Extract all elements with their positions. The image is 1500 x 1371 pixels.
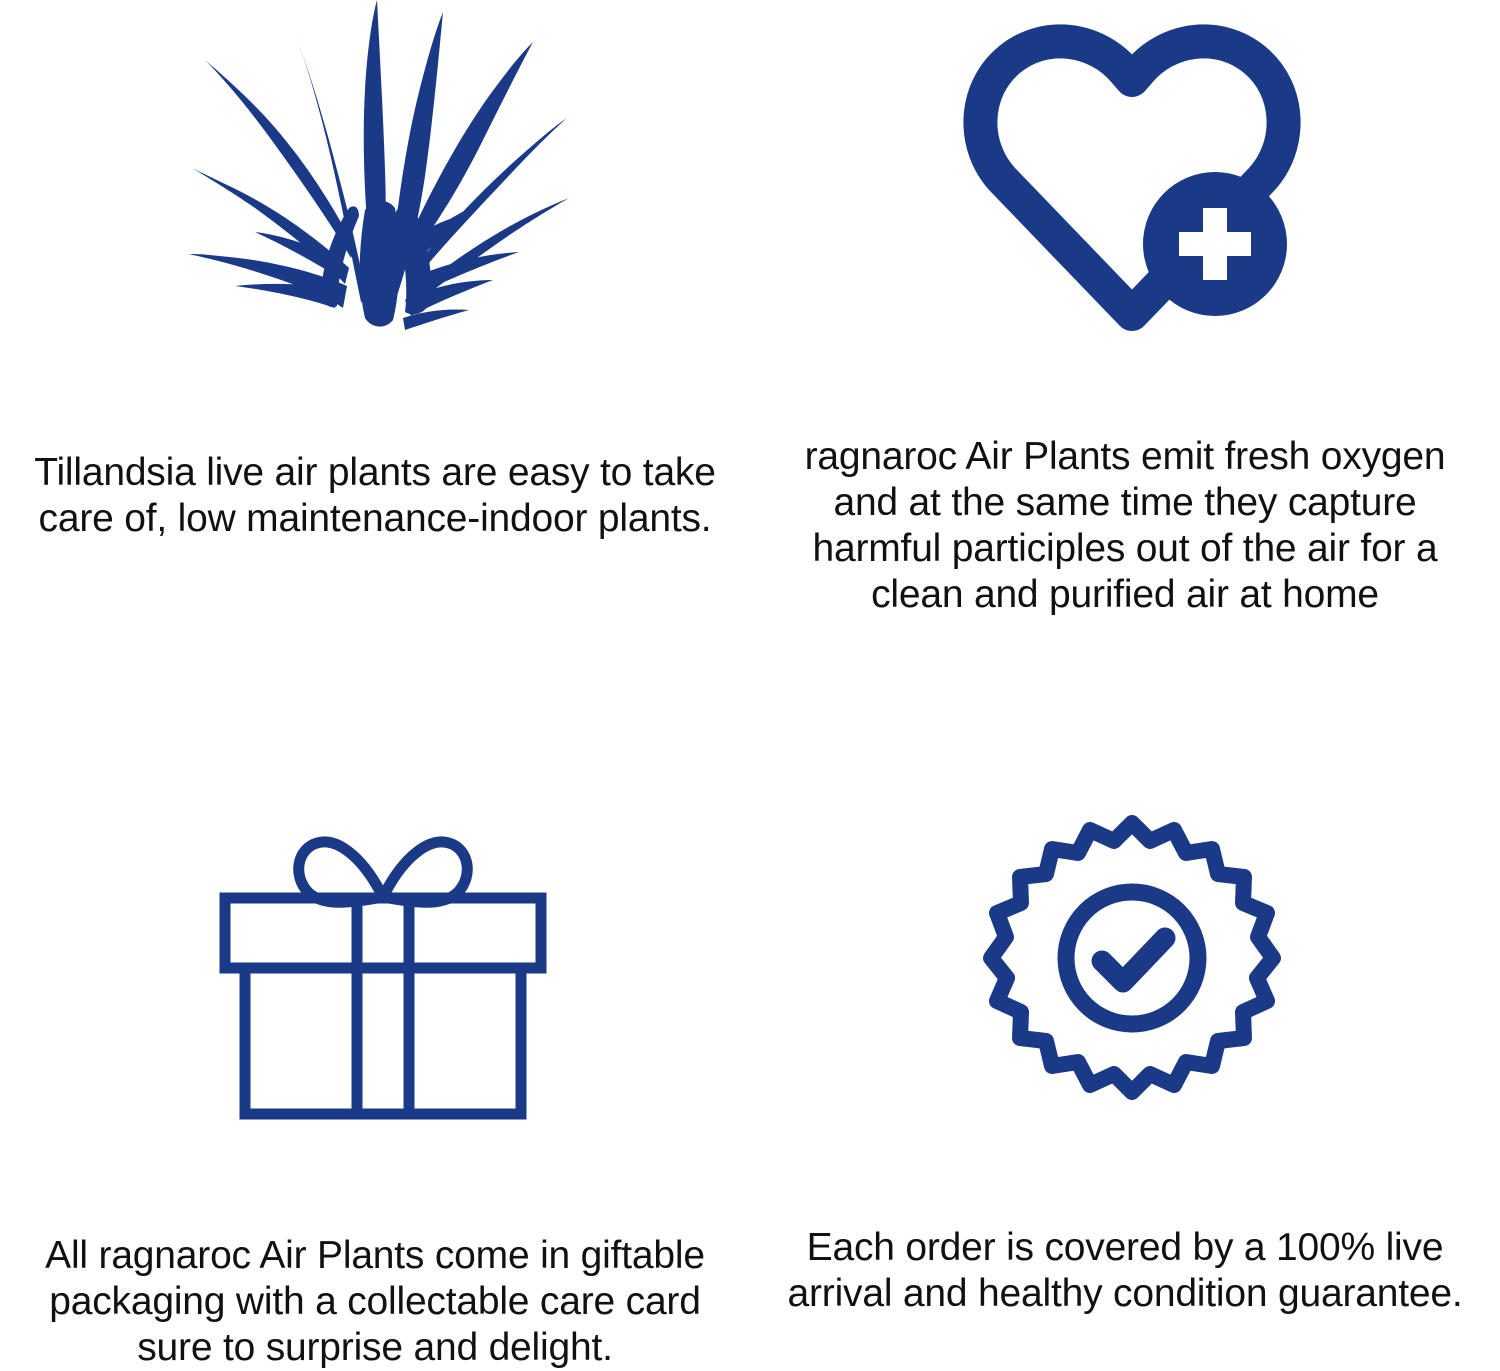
feature-caption: All ragnaroc Air Plants come in giftable… xyxy=(5,1233,745,1371)
feature-caption: Tillandsia live air plants are easy to t… xyxy=(0,450,755,542)
feature-cell-health: ragnaroc Air Plants emit fresh oxygen an… xyxy=(750,0,1500,681)
feature-cell-guarantee: Each order is covered by a 100% live arr… xyxy=(750,681,1500,1362)
feature-cell-air-plant: Tillandsia live air plants are easy to t… xyxy=(0,0,750,681)
feature-cell-gift: All ragnaroc Air Plants come in giftable… xyxy=(0,681,750,1362)
quality-badge-check-icon xyxy=(991,815,1273,1107)
feature-caption: Each order is covered by a 100% live arr… xyxy=(775,1225,1475,1317)
heart-plus-icon xyxy=(967,22,1297,332)
air-plant-icon xyxy=(189,0,569,330)
feature-caption: ragnaroc Air Plants emit fresh oxygen an… xyxy=(770,434,1480,618)
feature-grid: Tillandsia live air plants are easy to t… xyxy=(0,0,1500,1362)
gift-box-icon xyxy=(213,799,553,1121)
